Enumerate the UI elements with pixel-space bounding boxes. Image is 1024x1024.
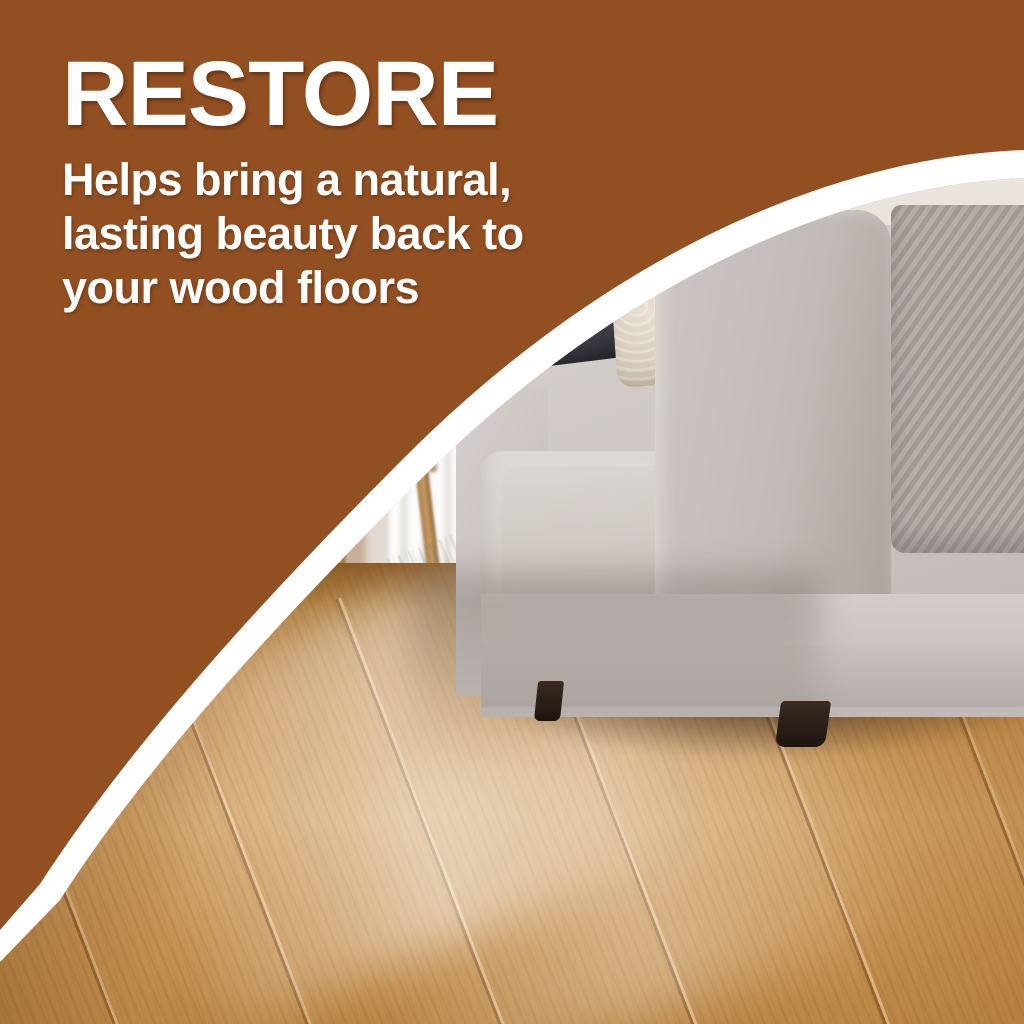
page-title: RESTORE: [62, 52, 662, 137]
sofa-leg-right: [775, 701, 831, 747]
knit-throw-blanket: [891, 205, 1024, 553]
wicker-basket: [276, 481, 366, 576]
floor-shading-left: [0, 563, 266, 1024]
lamp-glow: [717, 205, 743, 245]
product-banner: RESTORE Helps bring a natural, lasting b…: [0, 0, 1024, 1024]
sofa-leg-front: [533, 681, 563, 721]
copy-block: RESTORE Helps bring a natural, lasting b…: [62, 52, 662, 315]
subheadline: Helps bring a natural, lasting beauty ba…: [62, 153, 662, 315]
subheadline-line-2: lasting beauty back to: [62, 207, 662, 261]
subheadline-line-3: your wood floors: [62, 261, 662, 315]
stool-top: [307, 456, 437, 472]
subheadline-line-1: Helps bring a natural,: [62, 153, 662, 207]
floor-reflection: [410, 573, 820, 757]
stool-leg-back: [287, 470, 314, 570]
